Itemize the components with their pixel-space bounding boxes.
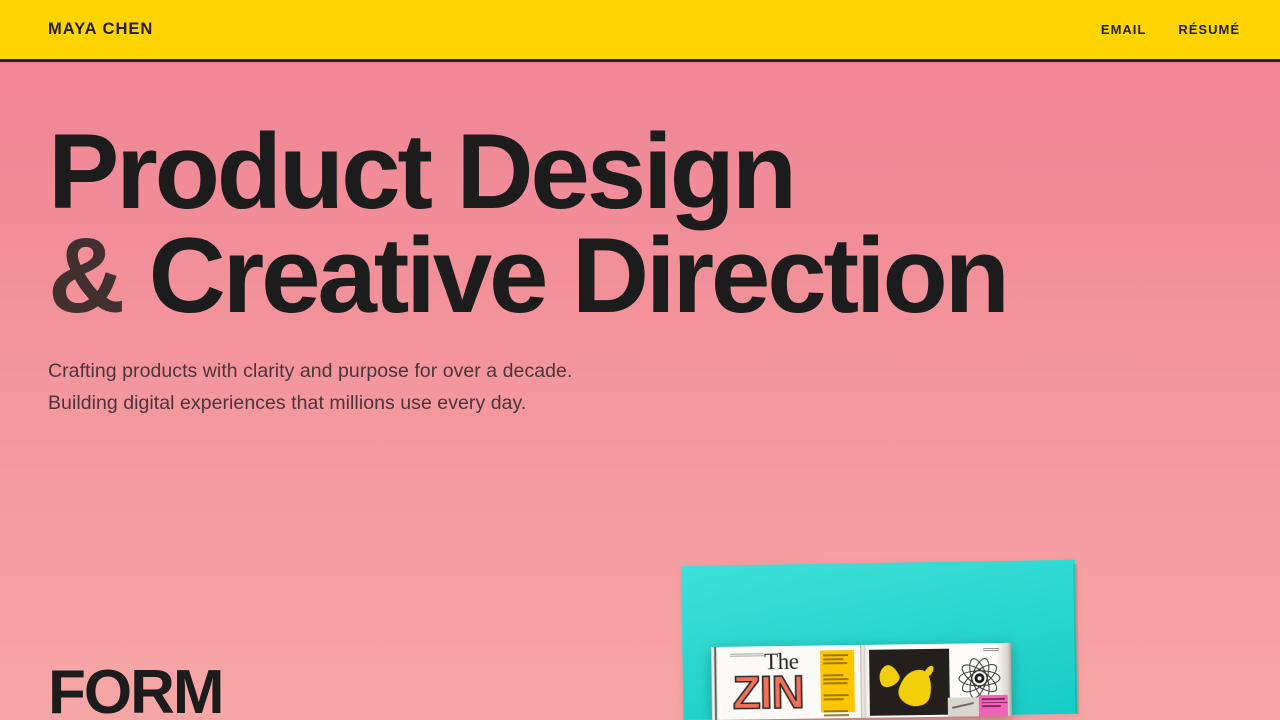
- page-root: MAYA CHEN EMAIL RÉSUMÉ Product Design & …: [0, 0, 1280, 720]
- magazine-dark-panel: [869, 649, 950, 716]
- atom-diagram-icon: [957, 657, 1002, 700]
- magazine-spread-photo: The ZIN: [711, 643, 1012, 720]
- brand-wordmark[interactable]: MAYA CHEN: [48, 20, 153, 39]
- magazine-left-page: The ZIN: [720, 645, 861, 720]
- site-header: MAYA CHEN EMAIL RÉSUMÉ: [0, 0, 1280, 62]
- headline-line-2: & Creative Direction: [48, 226, 1148, 324]
- pink-sticky-note: [979, 695, 1008, 717]
- headline-ampersand: &: [48, 215, 122, 335]
- nav-link-resume[interactable]: RÉSUMÉ: [1178, 22, 1240, 37]
- hero-subtitle: Crafting products with clarity and purpo…: [48, 355, 808, 419]
- subtitle-line-1: Crafting products with clarity and purpo…: [48, 355, 808, 387]
- pear-shape-small: [875, 662, 902, 689]
- magazine-yellow-text-column: [820, 650, 855, 712]
- nav-link-email[interactable]: EMAIL: [1101, 22, 1146, 37]
- headline-line-1: Product Design: [48, 122, 1148, 220]
- left-page-running-head: [730, 653, 764, 657]
- grey-inset-block: [948, 697, 980, 716]
- section-heading-form: FORM: [48, 662, 223, 720]
- magazine-title-zin: ZIN: [732, 670, 804, 715]
- hero-artwork: The ZIN: [681, 566, 1075, 720]
- headline-line-2-text: Creative Direction: [149, 215, 1007, 335]
- subtitle-line-2: Building digital experiences that millio…: [48, 387, 808, 419]
- magazine-right-page: [865, 643, 1008, 718]
- right-page-folio: [983, 648, 999, 651]
- hero-headline: Product Design & Creative Direction: [48, 122, 1148, 325]
- primary-nav: EMAIL RÉSUMÉ: [1101, 22, 1240, 37]
